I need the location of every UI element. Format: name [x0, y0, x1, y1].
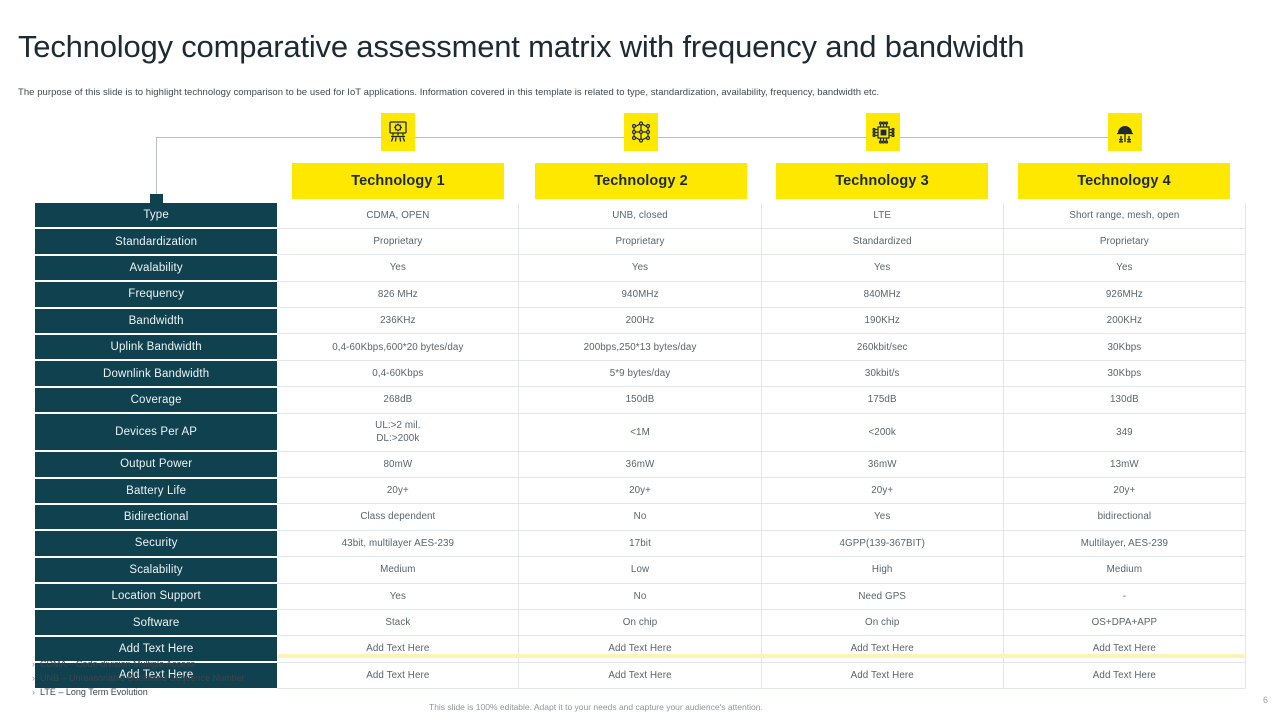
table-cell[interactable]: Yes [761, 504, 1003, 530]
table-cell[interactable]: 20y+ [277, 478, 519, 504]
transistor-icon [381, 113, 415, 151]
table-cell[interactable]: 43bit, multilayer AES-239 [277, 530, 519, 556]
abbreviation-notes: ›CDMA – Code-division Multiple Access›UN… [32, 658, 245, 700]
table-row: Coverage268dB150dB175dB130dB [35, 387, 1246, 413]
table-cell[interactable]: 175dB [761, 387, 1003, 413]
table-row: Location SupportYesNoNeed GPS- [35, 583, 1246, 609]
table-cell[interactable]: 200bps,250*13 bytes/day [519, 334, 761, 360]
table-row: TypeCDMA, OPENUNB, closedLTEShort range,… [35, 203, 1246, 228]
table-cell[interactable]: Medium [1003, 557, 1245, 583]
chevron-right-icon: › [32, 658, 35, 672]
connector-vertical-line [156, 137, 157, 199]
table-cell[interactable]: Low [519, 557, 761, 583]
table-cell[interactable]: Add Text Here [761, 662, 1003, 688]
page-number: 6 [1263, 695, 1268, 705]
table-row: Output Power80mW36mW36mW13mW [35, 451, 1246, 477]
table-cell[interactable]: 17bit [519, 530, 761, 556]
table-cell[interactable]: CDMA, OPEN [277, 203, 519, 228]
note-text: UNB – Unreasonable Backward Sequence Num… [40, 672, 245, 686]
table-cell[interactable]: 5*9 bytes/day [519, 360, 761, 386]
tech-header-4[interactable]: Technology 4 [1018, 163, 1230, 199]
table-cell[interactable]: Short range, mesh, open [1003, 203, 1245, 228]
editable-footer-note: This slide is 100% editable. Adapt it to… [429, 702, 763, 712]
table-cell[interactable]: No [519, 504, 761, 530]
table-row: AvalabilityYesYesYesYes [35, 255, 1246, 281]
microchip-icon [866, 113, 900, 151]
table-cell[interactable]: 840MHz [761, 281, 1003, 307]
slide-canvas: Technology comparative assessment matrix… [0, 0, 1280, 720]
chevron-right-icon: › [32, 686, 35, 700]
table-row: Battery Life20y+20y+20y+20y+ [35, 478, 1246, 504]
note-text: LTE – Long Term Evolution [40, 686, 148, 700]
table-row: StandardizationProprietaryProprietarySta… [35, 228, 1246, 254]
row-label[interactable]: Software [35, 609, 277, 635]
table-cell[interactable]: 20y+ [1003, 478, 1245, 504]
table-cell[interactable]: 349 [1003, 413, 1245, 451]
table-cell[interactable]: 20y+ [761, 478, 1003, 504]
table-cell[interactable]: Add Text Here [1003, 636, 1245, 662]
table-row: Downlink Bandwidth0,4-60Kbps5*9 bytes/da… [35, 360, 1246, 386]
table-cell[interactable]: Yes [1003, 255, 1245, 281]
table-cell[interactable]: 4GPP(139-367BIT) [761, 530, 1003, 556]
table-cell[interactable]: 36mW [761, 451, 1003, 477]
table-cell[interactable]: 190KHz [761, 308, 1003, 334]
row-label[interactable]: Coverage [35, 387, 277, 413]
note-item: ›LTE – Long Term Evolution [32, 686, 245, 700]
table-cell[interactable]: 200Hz [519, 308, 761, 334]
comparison-matrix-table: TypeCDMA, OPENUNB, closedLTEShort range,… [35, 203, 1246, 690]
row-label[interactable]: Security [35, 530, 277, 556]
table-cell[interactable]: 13mW [1003, 451, 1245, 477]
table-cell[interactable]: Yes [519, 255, 761, 281]
table-cell[interactable]: Proprietary [519, 228, 761, 254]
table-body: TypeCDMA, OPENUNB, closedLTEShort range,… [35, 203, 1246, 689]
table-cell[interactable]: 30Kbps [1003, 334, 1245, 360]
table-cell[interactable]: High [761, 557, 1003, 583]
table-cell[interactable]: UNB, closed [519, 203, 761, 228]
row-label[interactable]: Location Support [35, 583, 277, 609]
table-row: Devices Per APUL:>2 mil.DL:>200k<1M<200k… [35, 413, 1246, 451]
table-cell[interactable]: Add Text Here [1003, 662, 1245, 688]
table-cell[interactable]: 20y+ [519, 478, 761, 504]
table-cell[interactable]: Yes [277, 255, 519, 281]
table-row: Security43bit, multilayer AES-23917bit4G… [35, 530, 1246, 556]
table-cell[interactable]: Need GPS [761, 583, 1003, 609]
table-cell[interactable]: On chip [519, 609, 761, 635]
row-label[interactable]: Downlink Bandwidth [35, 360, 277, 386]
table-cell[interactable]: On chip [761, 609, 1003, 635]
table-cell[interactable]: 268dB [277, 387, 519, 413]
row-label[interactable]: Frequency [35, 281, 277, 307]
table-cell[interactable]: Class dependent [277, 504, 519, 530]
table-cell[interactable]: <1M [519, 413, 761, 451]
table-cell[interactable]: <200k [761, 413, 1003, 451]
row-label[interactable]: Scalability [35, 557, 277, 583]
table-cell[interactable]: Yes [761, 255, 1003, 281]
tech-header-3[interactable]: Technology 3 [776, 163, 988, 199]
table-cell[interactable]: Add Text Here [761, 636, 1003, 662]
table-row: ScalabilityMediumLowHighMedium [35, 557, 1246, 583]
table-cell[interactable]: LTE [761, 203, 1003, 228]
table-cell[interactable]: 260kbit/sec [761, 334, 1003, 360]
table-row: BidirectionalClass dependentNoYesbidirec… [35, 504, 1246, 530]
row-label[interactable]: Uplink Bandwidth [35, 334, 277, 360]
row-label[interactable]: Avalability [35, 255, 277, 281]
table-cell[interactable]: Yes [277, 583, 519, 609]
table-cell[interactable]: Proprietary [1003, 228, 1245, 254]
table-bottom-accent-bar [278, 654, 1246, 658]
row-label[interactable]: Bidirectional [35, 504, 277, 530]
table-cell[interactable]: Stack [277, 609, 519, 635]
note-item: ›UNB – Unreasonable Backward Sequence Nu… [32, 672, 245, 686]
table-cell[interactable]: 0,4-60Kbps,600*20 bytes/day [277, 334, 519, 360]
table-cell[interactable]: - [1003, 583, 1245, 609]
table-cell[interactable]: bidirectional [1003, 504, 1245, 530]
table-cell[interactable]: 236KHz [277, 308, 519, 334]
table-cell[interactable]: 30Kbps [1003, 360, 1245, 386]
table-cell[interactable]: OS+DPA+APP [1003, 609, 1245, 635]
row-label[interactable]: Output Power [35, 451, 277, 477]
tech-header-2[interactable]: Technology 2 [535, 163, 747, 199]
table-cell[interactable]: 0,4-60Kbps [277, 360, 519, 386]
table-cell[interactable]: 36mW [519, 451, 761, 477]
table-cell[interactable]: Add Text Here [519, 636, 761, 662]
table-cell[interactable]: 926MHz [1003, 281, 1245, 307]
row-label[interactable]: Type [35, 203, 277, 228]
table-cell[interactable]: Multilayer, AES-239 [1003, 530, 1245, 556]
table-cell[interactable]: 80mW [277, 451, 519, 477]
table-cell[interactable]: Add Text Here [277, 662, 519, 688]
table-cell[interactable]: No [519, 583, 761, 609]
row-label[interactable]: Battery Life [35, 478, 277, 504]
table-cell[interactable]: Proprietary [277, 228, 519, 254]
row-label[interactable]: Bandwidth [35, 308, 277, 334]
table-cell[interactable]: 200KHz [1003, 308, 1245, 334]
table-cell[interactable]: UL:>2 mil.DL:>200k [277, 413, 519, 451]
tech-header-1[interactable]: Technology 1 [292, 163, 504, 199]
row-label[interactable]: Devices Per AP [35, 413, 277, 451]
table-cell[interactable]: Medium [277, 557, 519, 583]
table-cell[interactable]: Standardized [761, 228, 1003, 254]
row-label[interactable]: Standardization [35, 228, 277, 254]
table-cell[interactable]: 30kbit/s [761, 360, 1003, 386]
table-cell[interactable]: 826 MHz [277, 281, 519, 307]
table-cell[interactable]: 130dB [1003, 387, 1245, 413]
chevron-right-icon: › [32, 672, 35, 686]
table-row: Uplink Bandwidth0,4-60Kbps,600*20 bytes/… [35, 334, 1246, 360]
note-item: ›CDMA – Code-division Multiple Access [32, 658, 245, 672]
table-row: Bandwidth236KHz200Hz190KHz200KHz [35, 308, 1246, 334]
table-row: Frequency826 MHz940MHz840MHz926MHz [35, 281, 1246, 307]
table-cell[interactable]: Add Text Here [277, 636, 519, 662]
slide-subtitle: The purpose of this slide is to highligh… [18, 87, 1258, 100]
table-cell[interactable]: 940MHz [519, 281, 761, 307]
circuit-network-icon [624, 113, 658, 151]
antenna-gateway-icon [1108, 113, 1142, 151]
page-title: Technology comparative assessment matrix… [18, 30, 1258, 64]
note-text: CDMA – Code-division Multiple Access [40, 658, 195, 672]
table-cell[interactable]: Add Text Here [519, 662, 761, 688]
table-row: SoftwareStackOn chipOn chipOS+DPA+APP [35, 609, 1246, 635]
table-cell[interactable]: 150dB [519, 387, 761, 413]
